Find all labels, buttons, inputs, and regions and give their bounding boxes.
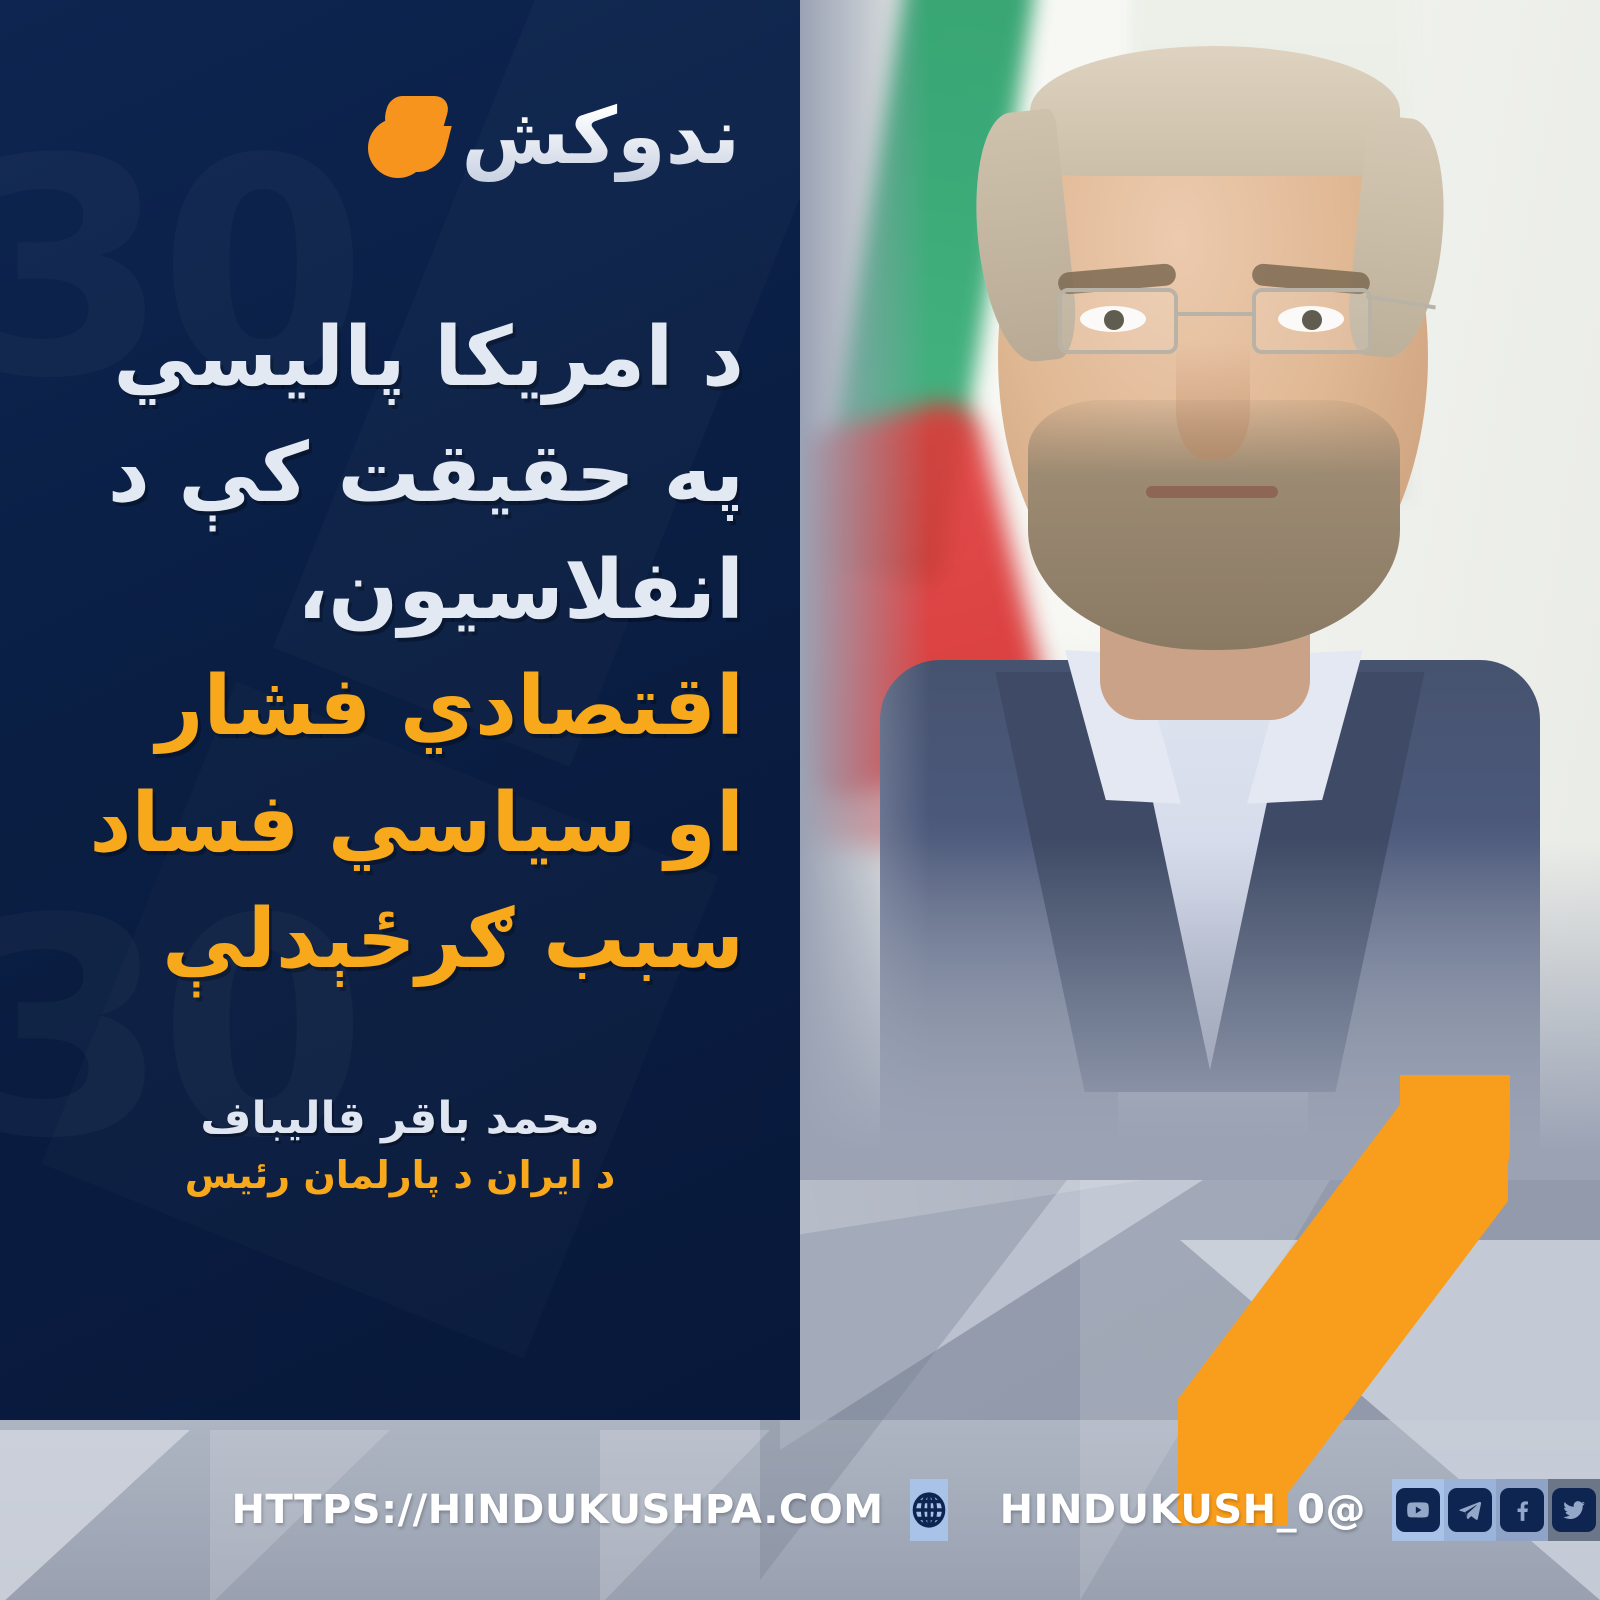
subject-hair-top — [1030, 46, 1400, 176]
headline-segment-orange: اقتصادي فشار او سياسي فساد سبب ګرځېدلې — [89, 659, 744, 987]
subject-nose — [1176, 342, 1250, 460]
twitter-icon — [1552, 1488, 1596, 1532]
footer-bar: @HINDUKUSH_0 HTTPS://HINDUKUSHPA.COM — [0, 1420, 1600, 1600]
headline-quote: د امريکا پاليسي په حقيقت کې د انفلاسيون،… — [56, 300, 744, 999]
youtube-icon — [1396, 1488, 1440, 1532]
subject-portrait-photo — [800, 0, 1600, 1180]
eyeglasses-lens-left — [1058, 288, 1178, 354]
social-media-card: 30 30 ندوکش د امريکا پاليسي په حقيقت کې … — [0, 0, 1600, 1600]
social-link-telegram[interactable] — [1444, 1479, 1496, 1541]
attribution-block: محمد باقر قالیباف د ایران د پارلمان رئیس — [56, 1090, 744, 1202]
photo-left-fade — [800, 0, 930, 1180]
subject-mouth — [1146, 486, 1278, 498]
site-logo[interactable]: ندوکش — [362, 92, 740, 182]
social-link-facebook[interactable] — [1496, 1479, 1548, 1541]
hindukush-swoosh-icon — [362, 94, 448, 180]
social-link-twitter[interactable] — [1548, 1479, 1600, 1541]
content-panel: 30 30 ندوکش د امريکا پاليسي په حقيقت کې … — [0, 0, 800, 1420]
social-link-youtube[interactable] — [1392, 1479, 1444, 1541]
facebook-icon — [1500, 1488, 1544, 1532]
telegram-icon — [1448, 1488, 1492, 1532]
eyeglasses-lens-right — [1252, 288, 1372, 354]
logo-wordmark: ندوکش — [462, 92, 740, 182]
speaker-name: محمد باقر قالیباف — [56, 1090, 744, 1147]
website-url[interactable]: HTTPS://HINDUKUSHPA.COM — [231, 1487, 883, 1533]
headline-segment-white: د امريکا پاليسي په حقيقت کې د انفلاسيون، — [108, 310, 744, 638]
social-links-group — [1392, 1479, 1600, 1541]
speaker-role: د ایران د پارلمان رئیس — [56, 1149, 744, 1202]
eyeglasses-bridge — [1178, 312, 1252, 316]
social-handle[interactable]: @HINDUKUSH_0 — [1000, 1487, 1366, 1533]
globe-icon — [910, 1479, 948, 1541]
